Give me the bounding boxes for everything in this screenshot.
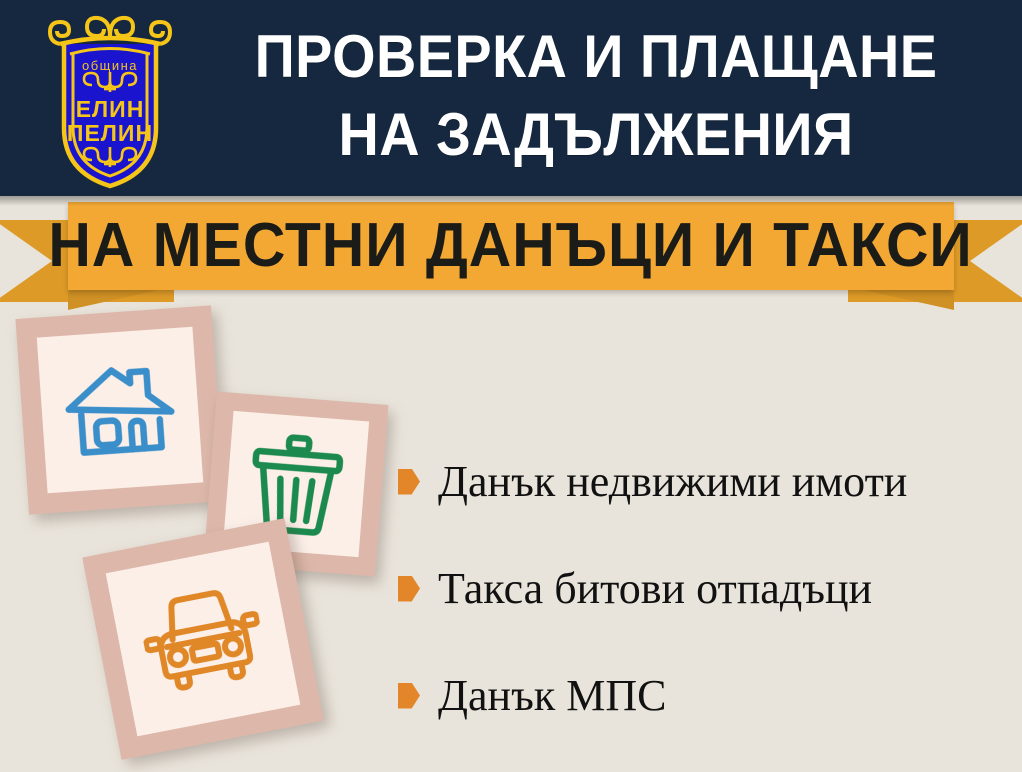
bullet-arrow-icon	[398, 576, 420, 602]
list-item[interactable]: Данък недвижими имоти	[398, 428, 1008, 535]
stamp-card-vehicle-tax	[82, 518, 324, 760]
tax-type-list: Данък недвижими имоти Такса битови отпад…	[398, 428, 1008, 749]
stamp-card-property-tax	[15, 305, 224, 514]
car-icon	[136, 580, 271, 699]
list-item[interactable]: Такса битови отпадъци	[398, 535, 1008, 642]
list-item-label: Такса битови отпадъци	[438, 566, 872, 612]
svg-text:ПЕЛИН: ПЕЛИН	[67, 120, 153, 146]
svg-text:ЕЛИН: ЕЛИН	[76, 96, 145, 122]
svg-text:община: община	[82, 58, 138, 73]
page-title-line-2: НА ЗАДЪЛЖЕНИЯ	[215, 96, 978, 174]
banner-text: НА МЕСТНИ ДАНЪЦИ И ТАКСИ	[49, 215, 973, 277]
page-title: ПРОВЕРКА И ПЛАЩАНЕ НА ЗАДЪЛЖЕНИЯ	[215, 18, 978, 174]
bullet-arrow-icon	[398, 469, 420, 495]
elin-pelin-coat-of-arms-icon: община ЕЛИН ПЕЛИН	[42, 10, 178, 190]
house-icon	[61, 356, 180, 464]
header-shadow	[0, 196, 1022, 206]
banner-body: НА МЕСТНИ ДАНЪЦИ И ТАКСИ	[68, 202, 954, 290]
list-item-label: Данък МПС	[438, 673, 666, 719]
list-item[interactable]: Данък МПС	[398, 642, 1008, 749]
list-item-label: Данък недвижими имоти	[438, 459, 907, 505]
banner-ribbon: НА МЕСТНИ ДАНЪЦИ И ТАКСИ	[0, 198, 1022, 308]
header-bar: община ЕЛИН ПЕЛИН ПРОВЕРКА И ПЛАЩАНЕ НА …	[0, 0, 1022, 196]
stamp-card-face	[106, 542, 301, 737]
bullet-arrow-icon	[398, 683, 420, 709]
page-title-line-1: ПРОВЕРКА И ПЛАЩАНЕ	[215, 18, 978, 96]
stamp-card-face	[37, 327, 204, 494]
